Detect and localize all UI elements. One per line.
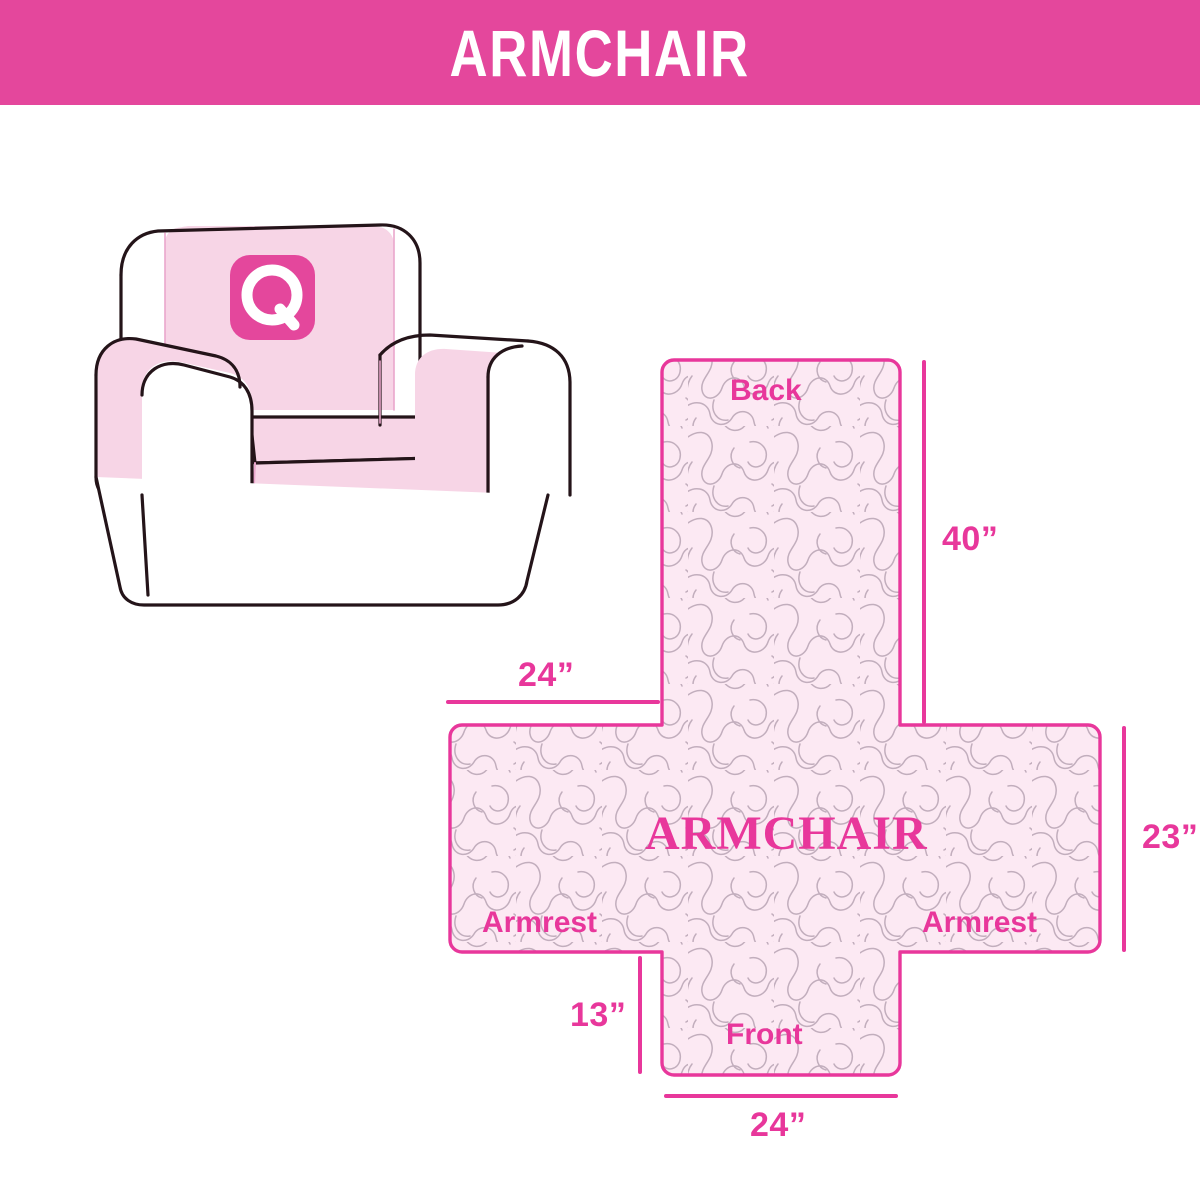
diagram-center-label: ARMCHAIR	[645, 810, 928, 858]
content-area: 40” 24” 23” 13” 24” Back Armrest Armrest…	[0, 105, 1200, 1200]
dim-label-front-height: 13”	[570, 998, 626, 1032]
header-banner: ARMCHAIR	[0, 0, 1200, 105]
brand-logo	[230, 255, 315, 340]
dim-label-armrest-width: 24”	[518, 658, 574, 692]
dim-label-middle-height: 23”	[1142, 820, 1198, 854]
panel-label-armrest-right: Armrest	[922, 908, 1037, 938]
panel-label-armrest-left: Armrest	[482, 908, 597, 938]
pattern-diagram: 40” 24” 23” 13” 24” Back Armrest Armrest…	[430, 340, 1200, 1140]
page-root: ARMCHAIR	[0, 0, 1200, 1200]
panel-label-front: Front	[726, 1020, 803, 1050]
cross-panel-shape	[450, 360, 1100, 1075]
dim-label-back-height: 40”	[942, 522, 998, 556]
page-title: ARMCHAIR	[450, 20, 750, 86]
panel-label-back: Back	[730, 376, 802, 406]
dim-label-front-width: 24”	[750, 1108, 806, 1142]
